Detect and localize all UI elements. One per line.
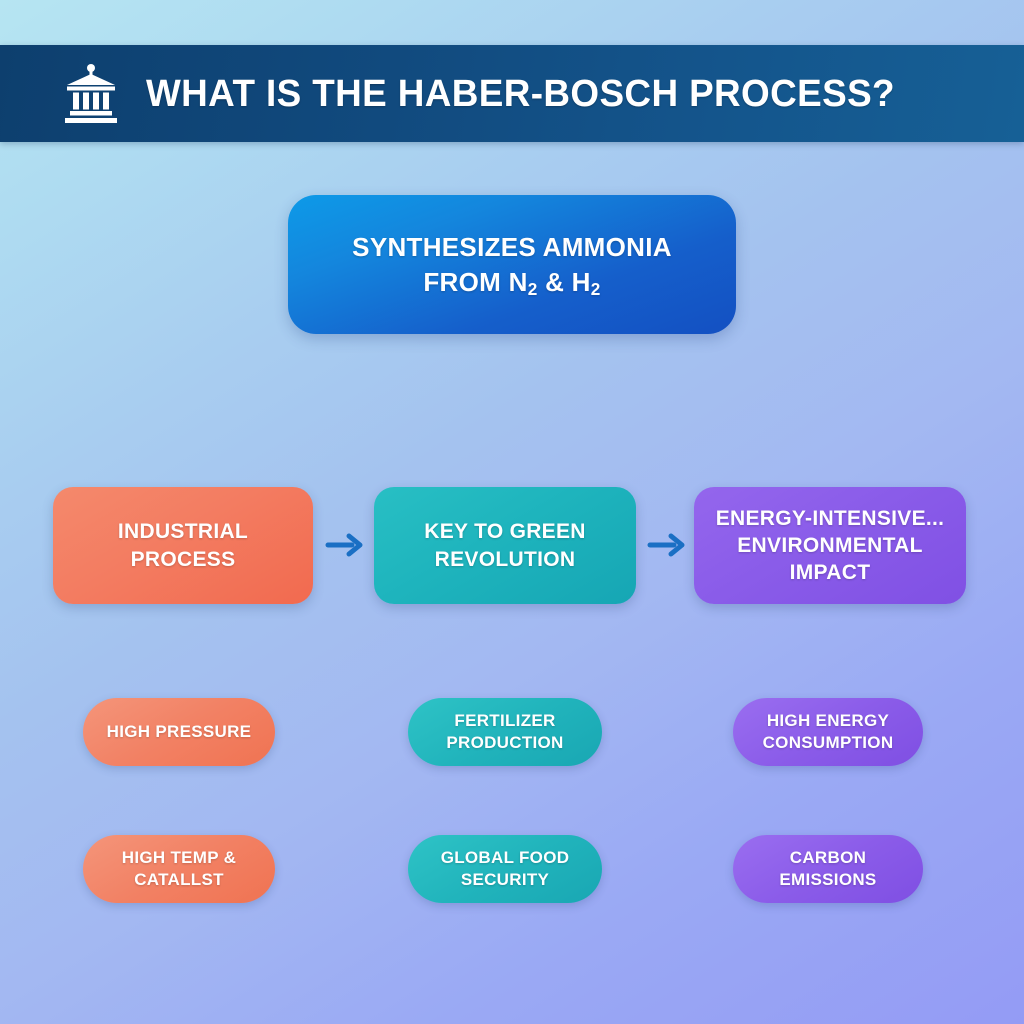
arrow-right-icon [325, 527, 365, 563]
sub-pill-label: HIGH TEMP & CATALLST [97, 847, 261, 892]
sub-pill-high-pressure[interactable]: HIGH PRESSURE [83, 698, 275, 766]
hero-line-2-prefix: FROM N [423, 267, 527, 297]
hero-line-2-sub-1: 2 [528, 279, 538, 299]
hero-line-2-sub-2: 2 [591, 279, 601, 299]
stage-card-key-to-green-revolution[interactable]: KEY TO GREEN REVOLUTION [374, 487, 636, 604]
sub-pill-label: FERTILIZER PRODUCTION [422, 710, 588, 755]
stage-card-industrial-process[interactable]: INDUSTRIAL PROCESS [53, 487, 313, 604]
sub-pill-carbon-emissions[interactable]: CARBON EMISSIONS [733, 835, 923, 903]
hero-summary-text: SYNTHESIZES AMMONIA FROM N2 & H2 [352, 230, 672, 299]
sub-pill-high-energy-consumption[interactable]: HIGH ENERGY CONSUMPTION [733, 698, 923, 766]
sub-pill-label: HIGH ENERGY CONSUMPTION [747, 710, 909, 755]
hero-line-1: SYNTHESIZES AMMONIA [352, 232, 672, 262]
sub-pill-global-food-security[interactable]: GLOBAL FOOD SECURITY [408, 835, 602, 903]
arrow-right-icon [647, 527, 687, 563]
hero-summary-card: SYNTHESIZES AMMONIA FROM N2 & H2 [288, 195, 736, 334]
stage-label: INDUSTRIAL PROCESS [67, 518, 299, 573]
institution-building-icon [62, 63, 120, 125]
sub-pill-label: GLOBAL FOOD SECURITY [422, 847, 588, 892]
sub-pill-label: HIGH PRESSURE [107, 721, 252, 743]
stage-card-energy-intensive-environmental-impact[interactable]: ENERGY-INTENSIVE... ENVIRONMENTAL IMPACT [694, 487, 966, 604]
sub-pill-fertilizer-production[interactable]: FERTILIZER PRODUCTION [408, 698, 602, 766]
infographic-canvas: WHAT IS THE HABER-BOSCH PROCESS? SYNTHES… [0, 0, 1024, 1024]
hero-line-2-mid: & H [538, 267, 591, 297]
sub-pill-label: CARBON EMISSIONS [747, 847, 909, 892]
stage-label: KEY TO GREEN REVOLUTION [388, 518, 622, 573]
page-title: WHAT IS THE HABER-BOSCH PROCESS? [146, 75, 895, 113]
stage-label: ENERGY-INTENSIVE... ENVIRONMENTAL IMPACT [708, 505, 952, 587]
header-bar: WHAT IS THE HABER-BOSCH PROCESS? [0, 45, 1024, 142]
sub-pill-high-temp-catalyst[interactable]: HIGH TEMP & CATALLST [83, 835, 275, 903]
stage-row: INDUSTRIAL PROCESS KEY TO GREEN REVOLUTI… [0, 487, 1024, 604]
